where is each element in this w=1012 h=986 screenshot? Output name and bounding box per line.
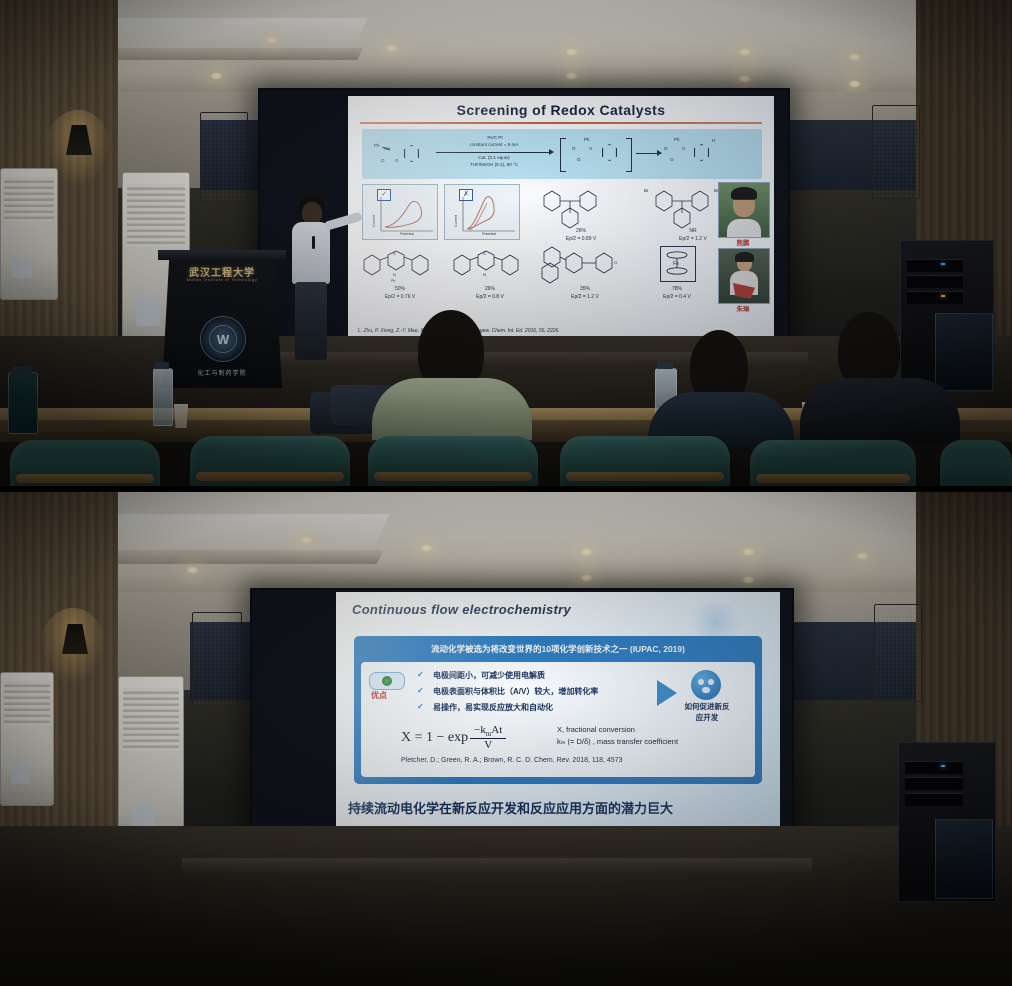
catalyst-4-label: 26% Ep/2 = 0.8 V xyxy=(446,286,534,301)
downlight-icon xyxy=(565,48,578,56)
bottle-cap xyxy=(12,366,32,374)
arrow-right-icon xyxy=(657,680,677,706)
downlight-icon xyxy=(738,48,751,56)
downlight-icon xyxy=(265,36,278,44)
cv1-x-axis-label: Potential xyxy=(381,232,433,236)
check-icon: ✓ xyxy=(417,686,424,695)
downlight-icon xyxy=(848,53,861,61)
banner-chinese: 流动化学被选为将改变世界的10项化学创新技术之一 xyxy=(431,644,627,654)
banner-text: 流动化学被选为将改变世界的10项化学创新技术之一 (IUPAC, 2019) xyxy=(354,643,762,655)
rack-slot xyxy=(907,291,963,304)
presenter-head xyxy=(302,202,322,224)
downlight-icon xyxy=(420,544,433,552)
cv-plot-1: ✓ Current Potential xyxy=(362,184,438,240)
catalyst-6-yield: 78% xyxy=(672,286,682,292)
ac-louvers xyxy=(127,184,185,246)
cv-plot-2: ✗ Current Potential xyxy=(444,184,520,240)
catalyst-3-yield: 50% xyxy=(395,286,405,292)
downlight-icon xyxy=(856,552,869,560)
cv-curve-2 xyxy=(445,185,519,239)
advantages-icon xyxy=(369,672,405,690)
rack-status-led xyxy=(941,765,945,767)
podium-seal: W xyxy=(200,316,246,362)
equation-num-rest: At xyxy=(491,724,502,736)
catalyst-6-label: 78% Ep/2 = 0.4 V xyxy=(636,286,718,301)
portrait-photo-2 xyxy=(718,248,770,304)
projection-screen: Continuous flow electrochemistry 流动化学被选为… xyxy=(336,592,780,838)
second-arrow-head xyxy=(657,150,662,156)
definition-1: X, fractional conversion xyxy=(557,724,635,736)
loudspeaker-left xyxy=(200,112,248,202)
catalyst-2-potential: Ep/2 = 1.2 V xyxy=(679,236,707,242)
equation-denominator: V xyxy=(470,739,506,751)
bullet-1: 电极间距小，可减少使用电解质 xyxy=(433,670,545,681)
side-note-line-1: 如何促进新反 xyxy=(685,702,730,711)
presenter-torso xyxy=(292,222,330,284)
check-icon: ✓ xyxy=(417,702,424,711)
scheme-condition-catalyst: Cat. (0.1 equiv) xyxy=(434,155,554,162)
cv2-y-axis-label: Current xyxy=(454,215,458,227)
audience-shoulders xyxy=(372,378,532,440)
scheme-condition-solvent: THF/MeOH (5:1), 60 °C xyxy=(432,162,556,169)
rack-slot xyxy=(905,761,963,774)
ferrocene-structure: Fe xyxy=(660,246,694,280)
av-equipment-rack xyxy=(898,742,996,902)
conversion-equation: X = 1 − exp −kmAt V xyxy=(401,724,506,751)
downlight-icon xyxy=(186,566,199,574)
new-reaction-icon xyxy=(691,670,721,700)
catalyst-1-label: 26% Ep/2 = 0.89 V xyxy=(526,228,636,243)
equation-lhs: X = 1 − exp xyxy=(401,730,468,745)
rack-slot xyxy=(907,259,963,272)
water-bottle xyxy=(8,372,38,434)
bullet-3: 易操作，易实现反应放大和自动化 xyxy=(433,702,553,713)
catalyst-6-potential: Ep/2 = 0.4 V xyxy=(663,294,691,300)
ac-badge xyxy=(136,297,160,326)
portrait-2-name: 朱琳 xyxy=(718,303,768,313)
chair-wood-trim xyxy=(756,474,910,483)
portrait-1-name: 熊鹏 xyxy=(718,237,768,247)
intermediate-ring xyxy=(602,144,617,161)
slide1-title: Screening of Redox Catalysts xyxy=(348,102,774,118)
podium-university-name-en: Wuhan Institute of Technology xyxy=(162,278,282,282)
downlight-icon xyxy=(738,75,751,83)
rack-status-led xyxy=(941,295,945,297)
downlight-icon xyxy=(742,576,755,584)
slide1-title-rule xyxy=(360,122,762,124)
av-equipment-rack xyxy=(900,240,994,392)
cv1-y-axis-label: Current xyxy=(372,215,376,227)
svg-text:Br: Br xyxy=(644,188,649,193)
banner-source: (IUPAC, 2019) xyxy=(630,644,685,654)
catalyst-3-label: 50% Ep/2 = 0.76 V xyxy=(356,286,444,301)
loudspeaker-right xyxy=(872,105,920,199)
rack-glass-door xyxy=(935,819,993,899)
catalyst-5-yield: 35% xyxy=(580,286,590,292)
catalyst-4-yield: 26% xyxy=(485,286,495,292)
loudspeaker-left xyxy=(192,612,242,706)
auditorium-room-top: Screening of Redox Catalysts Ph NH O O R… xyxy=(0,0,1012,486)
catalyst-1-potential: Ep/2 = 0.89 V xyxy=(566,236,596,242)
loudspeaker-right xyxy=(874,604,922,702)
downlight-icon xyxy=(300,536,313,544)
chair-wood-trim xyxy=(566,472,724,481)
photo-panel-bottom: Continuous flow electrochemistry 流动化学被选为… xyxy=(0,492,1012,986)
catalyst-2-yield: NR xyxy=(689,228,696,234)
ac-badge xyxy=(12,257,32,278)
equation-numerator: −k xyxy=(474,724,486,736)
slide2-title: Continuous flow electrochemistry xyxy=(352,602,571,617)
presenter-legs xyxy=(295,282,327,360)
definition-2: kₘ (= D/δ) , mass transfer coefficient xyxy=(557,736,678,748)
svg-text:O: O xyxy=(614,260,617,265)
auditorium-room-bottom: Continuous flow electrochemistry 流动化学被选为… xyxy=(0,492,1012,986)
downlight-icon xyxy=(385,44,398,52)
chair-wood-trim xyxy=(374,472,532,481)
content-card: 流动化学被选为将改变世界的10项化学创新技术之一 (IUPAC, 2019) 优… xyxy=(354,636,762,784)
advantages-label: 优点 xyxy=(371,690,387,701)
auditorium-chair xyxy=(940,440,1012,486)
catalyst-1-yield: 26% xyxy=(576,228,586,234)
downlight-icon xyxy=(210,72,223,80)
catalyst-structure-5: O xyxy=(538,244,642,288)
podium-university-name: 武汉工程大学 xyxy=(162,264,282,279)
microphone xyxy=(312,236,315,249)
svg-text:N: N xyxy=(393,272,396,277)
svg-text:S: S xyxy=(393,251,396,256)
catalyst-4-potential: Ep/2 = 0.8 V xyxy=(476,294,504,300)
bottle-cap xyxy=(657,362,673,369)
catalyst-structure-3: S N Ph xyxy=(358,248,442,284)
downlight-icon xyxy=(580,574,593,582)
content-inner-panel: 优点 ✓ 电极间距小，可减少使用电解质 ✓ 电极表面积与体积比（A/V）较大，增… xyxy=(361,662,755,777)
slide2-reference: Pletcher, D.; Green, R. A.; Brown, R. C.… xyxy=(401,757,623,764)
cv2-x-axis-label: Potential xyxy=(463,232,515,236)
reaction-scheme-band: Ph NH O O RVC Pt constant current = 5 mA… xyxy=(362,129,762,179)
slide2-footer: 持续流动电化学在新反应开发和反应应用方面的潜力巨大 xyxy=(348,798,673,817)
side-note: 如何促进新反 应开发 xyxy=(677,702,737,723)
ac-badge xyxy=(11,763,30,784)
intermediate-bracket-right xyxy=(626,138,632,172)
bullet-2: 电极表面积与体积比（A/V）较大，增加转化率 xyxy=(433,686,598,697)
reaction-arrow xyxy=(436,152,550,153)
lecture-photo-pair: Screening of Redox Catalysts Ph NH O O R… xyxy=(0,0,1012,986)
check-icon: ✓ xyxy=(417,670,424,679)
ac-louvers xyxy=(123,688,179,751)
downlight-icon xyxy=(580,548,593,556)
downlight-icon xyxy=(565,72,578,80)
side-note-line-2: 应开发 xyxy=(696,713,719,722)
product-ring xyxy=(694,144,709,161)
floor-bottom xyxy=(0,826,1012,986)
water-bottle xyxy=(153,368,173,426)
catalyst-structure-4: S N xyxy=(448,248,532,284)
slide-screening-redox-catalysts: Screening of Redox Catalysts Ph NH O O R… xyxy=(348,96,774,336)
ferrocene-metal-label: Fe xyxy=(673,261,679,267)
podium-desktop xyxy=(158,250,286,260)
downlight-icon xyxy=(742,548,755,556)
catalyst-3-potential: Ep/2 = 0.76 V xyxy=(385,294,415,300)
podium-top: 武汉工程大学 Wuhan Institute of Technology W 化… xyxy=(162,258,282,388)
rack-slot xyxy=(907,275,963,288)
catalyst-5-potential: Ep/2 = 1.2 V xyxy=(571,294,599,300)
projection-screen: Screening of Redox Catalysts Ph NH O O R… xyxy=(348,96,774,336)
rack-status-led xyxy=(941,263,945,265)
svg-text:N: N xyxy=(483,272,486,277)
audience-shoulders xyxy=(800,378,960,444)
scheme-condition-electrodes: RVC Pt xyxy=(440,135,550,142)
air-conditioner-left xyxy=(0,168,58,300)
portrait-photo-1 xyxy=(718,182,770,238)
bottle-cap xyxy=(155,362,169,369)
cv-curve-1 xyxy=(363,185,437,239)
rack-slot xyxy=(905,777,963,790)
intermediate-bracket-left xyxy=(560,138,566,172)
catalyst-structure-1 xyxy=(526,182,636,234)
chair-wood-trim xyxy=(16,474,154,483)
svg-text:S: S xyxy=(483,251,486,256)
rack-slot xyxy=(905,793,963,806)
downlight-icon xyxy=(848,80,861,88)
ac-louvers xyxy=(4,177,53,221)
podium-department: 化工与制药学院 xyxy=(162,368,282,377)
slide-continuous-flow-electrochemistry: Continuous flow electrochemistry 流动化学被选为… xyxy=(336,592,780,838)
second-arrow xyxy=(636,153,658,154)
ac-louvers xyxy=(4,681,50,726)
scheme-condition-current: constant current = 5 mA xyxy=(434,142,554,149)
stage-front-edge xyxy=(182,858,812,874)
rack-glass-door xyxy=(935,313,993,391)
catalyst-5-label: 35% Ep/2 = 1.2 V xyxy=(538,286,632,301)
air-conditioner-left xyxy=(0,672,54,806)
photo-panel-top: Screening of Redox Catalysts Ph NH O O R… xyxy=(0,0,1012,486)
svg-text:Ph: Ph xyxy=(391,279,395,283)
chair-wood-trim xyxy=(196,472,344,481)
cyclohexene-ring xyxy=(404,145,419,162)
podium-seal-letter: W xyxy=(209,325,237,353)
